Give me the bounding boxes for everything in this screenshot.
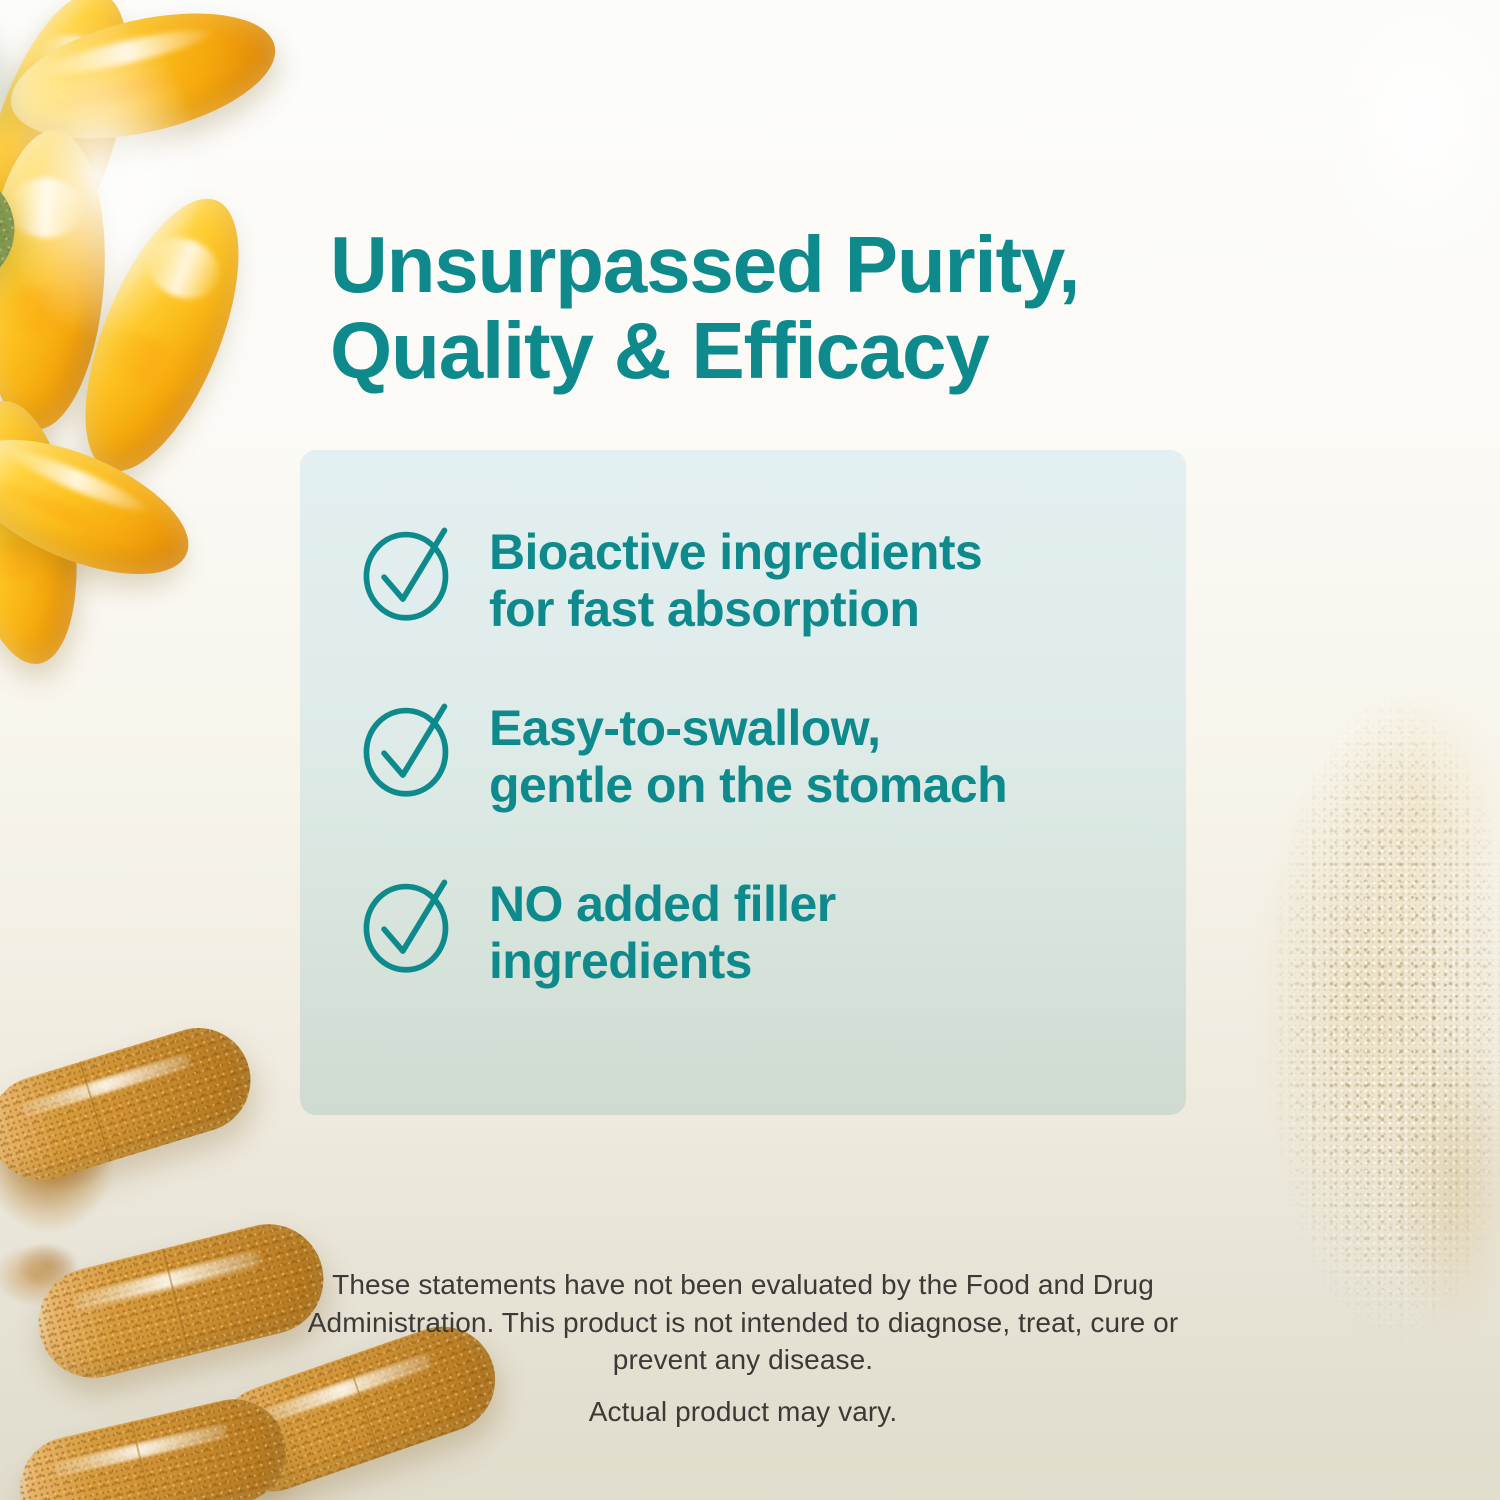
list-item: NO added filler ingredients (355, 870, 1150, 990)
softgel-capsule (0, 0, 157, 297)
list-item: Bioactive ingredients for fast absorptio… (355, 518, 1150, 638)
softgel-capsule (0, 0, 287, 161)
circle-check-icon (355, 696, 459, 800)
bullet-1-line-1: Bioactive ingredients (489, 524, 982, 580)
list-item-label: Bioactive ingredients for fast absorptio… (489, 518, 982, 638)
page-title-line-2: Quality & Efficacy (330, 306, 989, 395)
fda-disclaimer: These statements have not been evaluated… (300, 1266, 1186, 1379)
turmeric-capsule (0, 1015, 263, 1193)
product-feature-graphic: Unsurpassed Purity, Quality & Efficacy B… (0, 0, 1500, 1500)
page-title: Unsurpassed Purity, Quality & Efficacy (330, 222, 1210, 395)
spilled-turmeric-powder (0, 1050, 144, 1265)
softgel-capsule (0, 412, 207, 602)
circle-check-icon (355, 520, 459, 624)
benefits-list: Bioactive ingredients for fast absorptio… (355, 518, 1150, 990)
softgel-capsule (54, 179, 270, 491)
list-item: Easy-to-swallow, gentle on the stomach (355, 694, 1150, 814)
spilled-turmeric-powder (0, 1230, 96, 1320)
turmeric-capsule (10, 1389, 296, 1500)
bullet-1-line-2: for fast absorption (489, 581, 919, 637)
turmeric-capsule (27, 1213, 335, 1390)
bullet-2-line-1: Easy-to-swallow, (489, 700, 880, 756)
product-variation-note: Actual product may vary. (300, 1396, 1186, 1428)
list-item-label: Easy-to-swallow, gentle on the stomach (489, 694, 1007, 814)
page-title-line-1: Unsurpassed Purity, (330, 220, 1079, 309)
list-item-label: NO added filler ingredients (489, 870, 836, 990)
bullet-2-line-2: gentle on the stomach (489, 757, 1007, 813)
green-capsule (0, 0, 19, 230)
benefits-card: Bioactive ingredients for fast absorptio… (300, 450, 1186, 1115)
softgel-capsule (0, 394, 92, 671)
circle-check-icon (355, 872, 459, 976)
bullet-3-line-1: NO added filler (489, 876, 836, 932)
bullet-3-line-2: ingredients (489, 933, 752, 989)
green-capsule (0, 159, 28, 351)
softgel-capsule (0, 126, 114, 434)
